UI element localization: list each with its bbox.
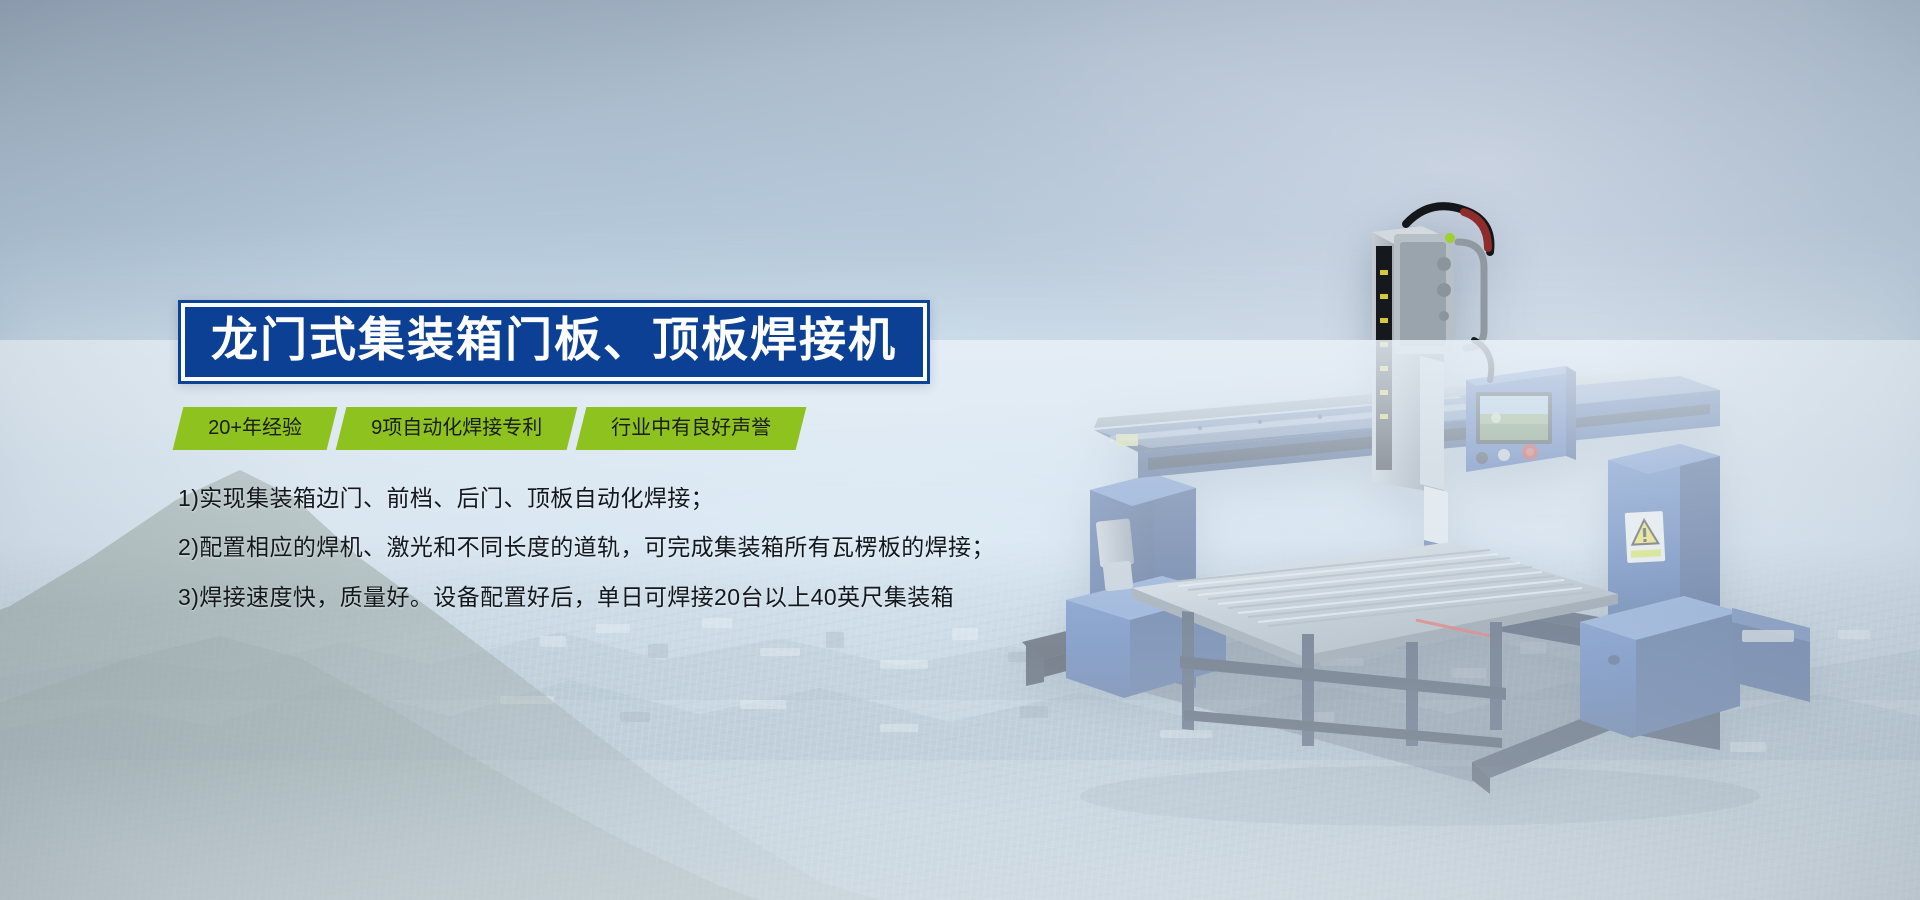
feature-line-2: 2)配置相应的焊机、激光和不同长度的道轨，可完成集装箱所有瓦楞板的焊接；	[178, 533, 1178, 562]
feature-line-3: 3)焊接速度快，质量好。设备配置好后，单日可焊接20台以上40英尺集装箱	[178, 583, 1178, 612]
feature-tag-patents: 9项自动化焊接专利	[336, 407, 578, 450]
feature-description-list: 1)实现集装箱边门、前档、后门、顶板自动化焊接； 2)配置相应的焊机、激光和不同…	[178, 484, 1178, 612]
hmi-control-panel	[1466, 340, 1576, 472]
title-plate: 龙门式集装箱门板、顶板焊接机	[178, 300, 930, 384]
feature-tag-reputation: 行业中有良好声誉	[576, 407, 807, 450]
hazard-warning-label	[1625, 511, 1666, 563]
feature-tag-reputation-label: 行业中有良好声誉	[611, 418, 771, 438]
feature-line-1: 1)实现集装箱边门、前档、后门、顶板自动化焊接；	[178, 484, 1178, 513]
feature-tag-experience: 20+年经验	[173, 407, 338, 450]
banner-content: 龙门式集装箱门板、顶板焊接机 20+年经验 9项自动化焊接专利 行业中有良好声誉…	[178, 300, 1178, 611]
feature-tag-patents-label: 9项自动化焊接专利	[371, 418, 542, 438]
feature-tag-list: 20+年经验 9项自动化焊接专利 行业中有良好声誉	[178, 407, 1178, 450]
banner-stage: 龙门式集装箱门板、顶板焊接机 20+年经验 9项自动化焊接专利 行业中有良好声誉…	[0, 0, 1920, 900]
title-inner-box: 龙门式集装箱门板、顶板焊接机	[185, 307, 923, 377]
right-column	[1580, 444, 1810, 738]
page-title: 龙门式集装箱门板、顶板焊接机	[211, 315, 897, 366]
feature-tag-experience-label: 20+年经验	[208, 418, 302, 438]
